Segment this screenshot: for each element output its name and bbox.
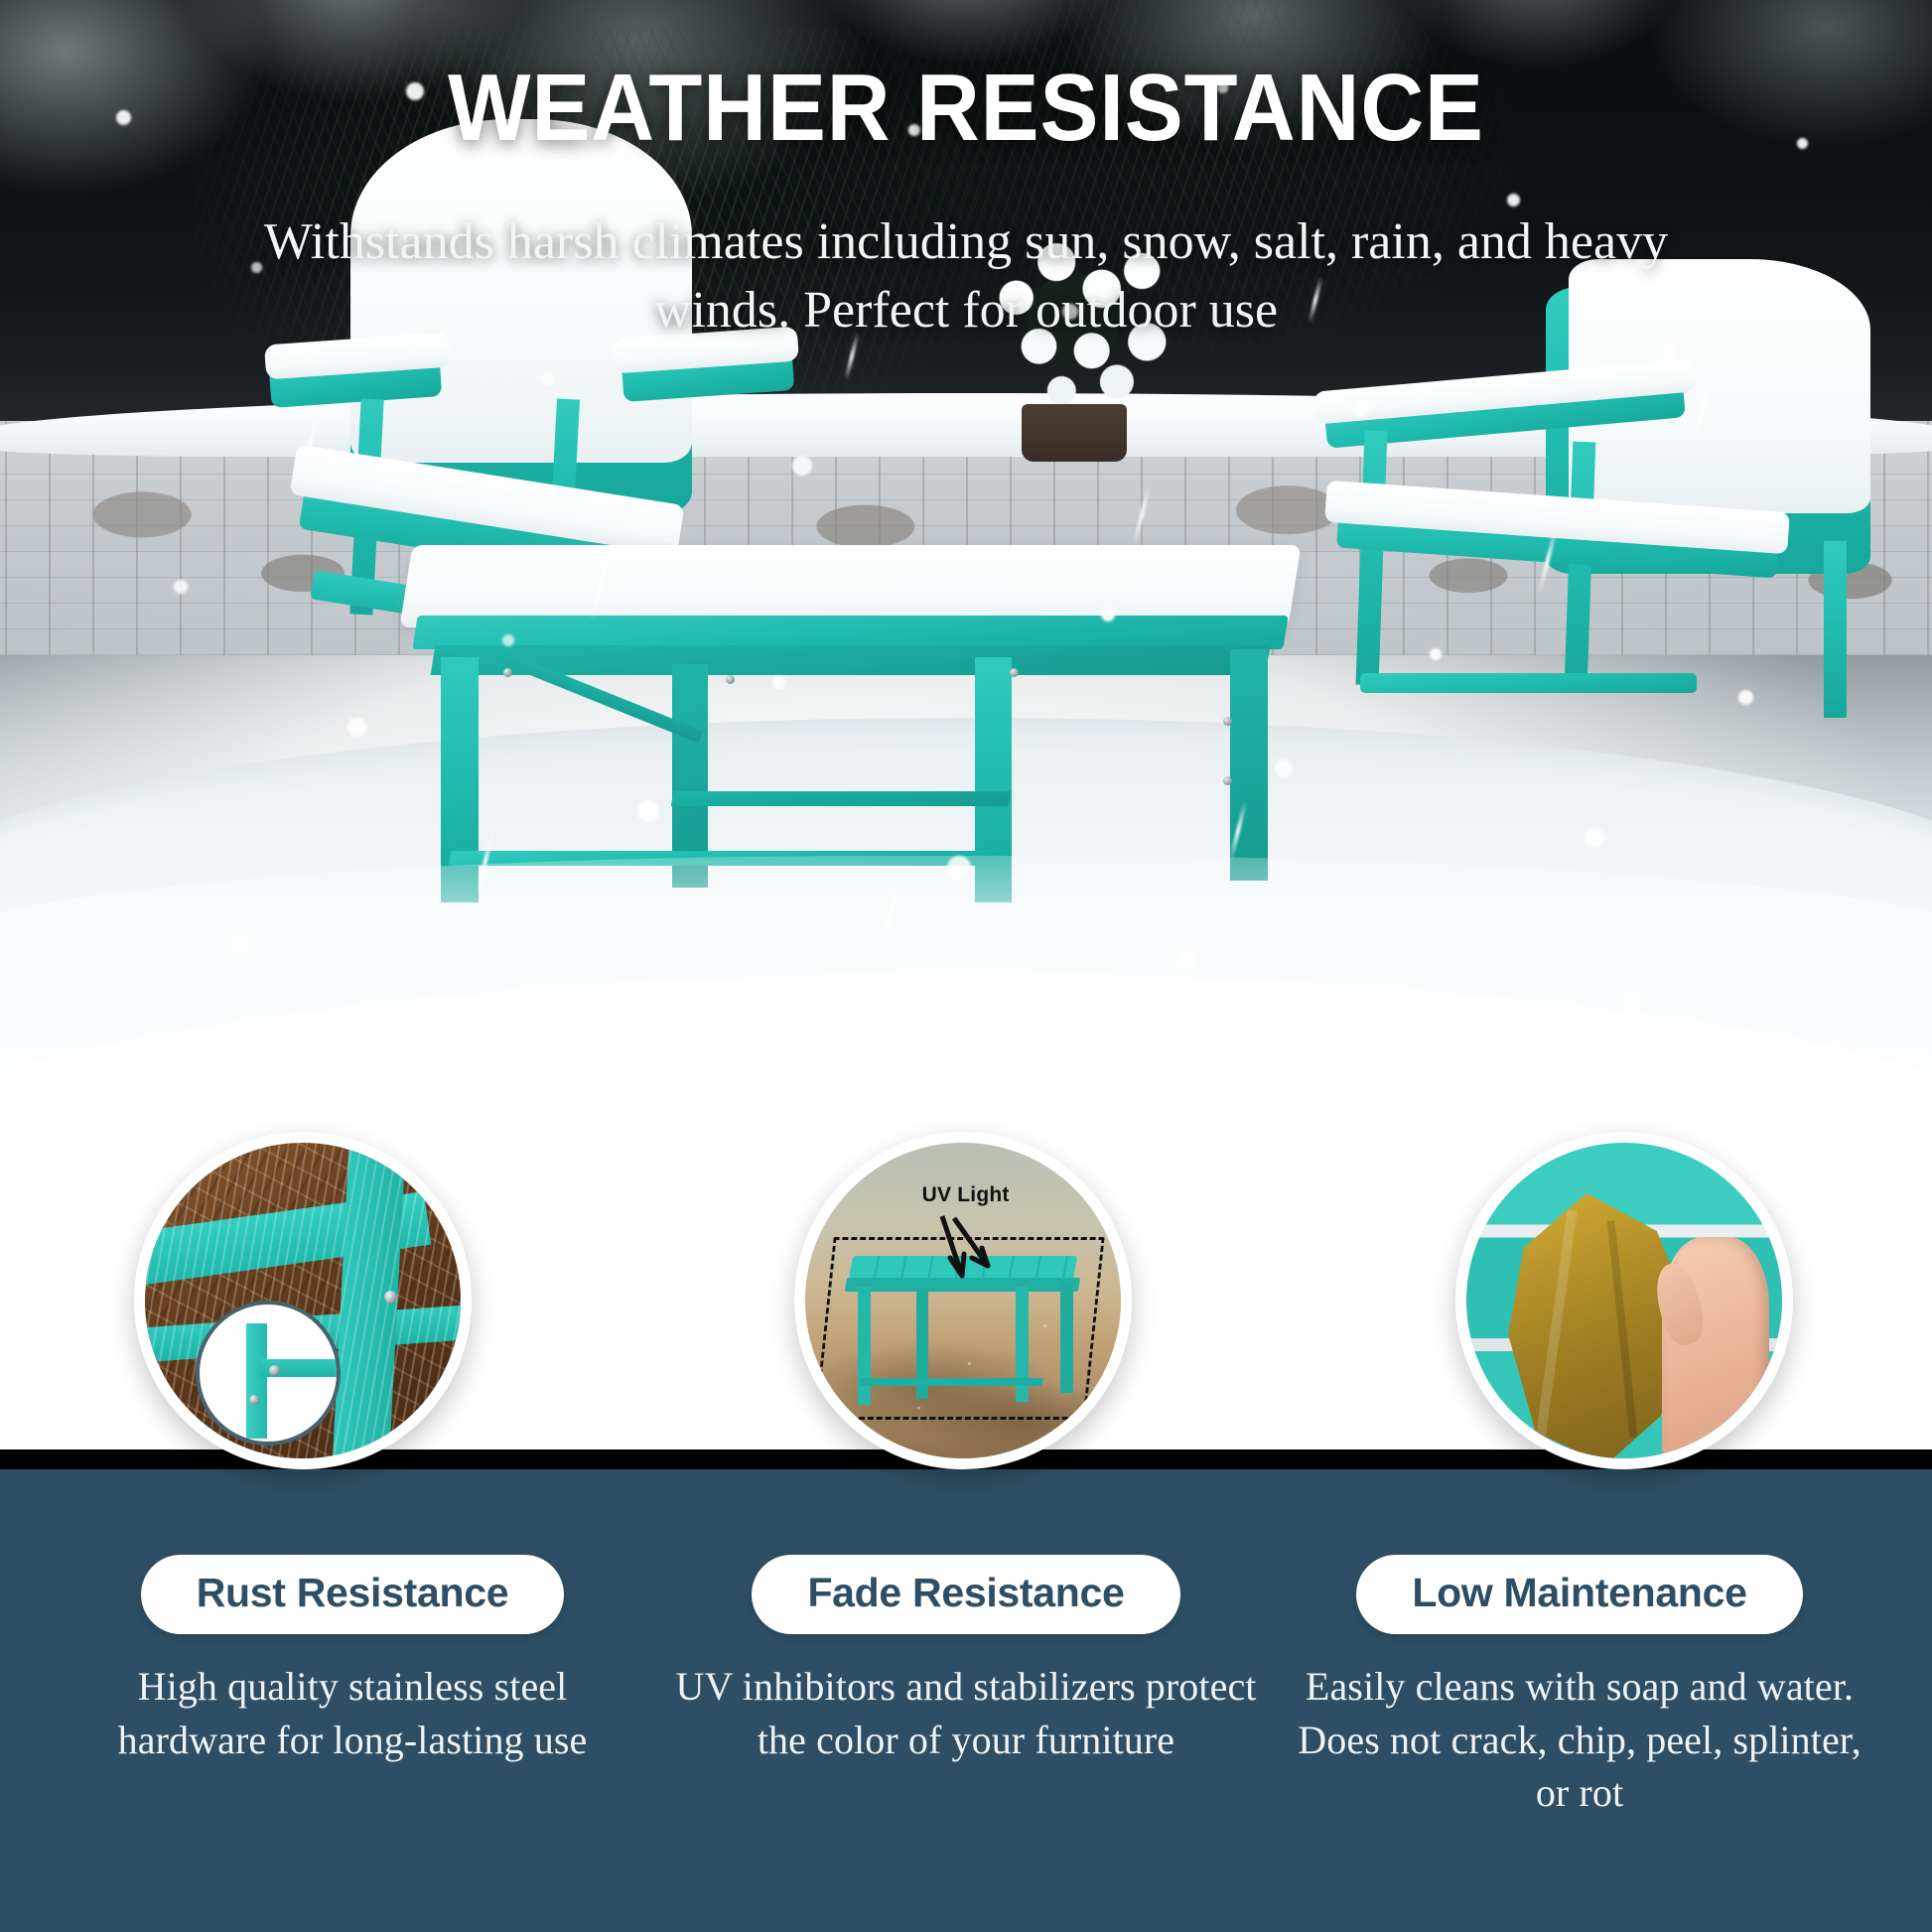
page-subtitle: Withstands harsh climates including sun,… [231, 208, 1701, 345]
chair-leg-c [1824, 541, 1847, 718]
table-leg-4 [1230, 649, 1268, 881]
rust-resistance-circle [134, 1132, 472, 1469]
table-screw [1223, 717, 1232, 726]
feature-label-badge: Low Maintenance [1356, 1555, 1802, 1634]
table-screw [503, 668, 512, 677]
chair-stretcher [1360, 673, 1697, 692]
table-screw [726, 675, 735, 684]
infographic-root: UV Light Rust Resistance High quality st… [0, 0, 1932, 1932]
table-stretcher-back [671, 791, 1012, 806]
magnifier-inset [196, 1301, 341, 1446]
magnified-post [246, 1323, 267, 1439]
cloth-fold [1535, 1210, 1578, 1449]
fade-resistance-circle: UV Light [794, 1132, 1132, 1469]
feature-description: Easily cleans with soap and water. Does … [1287, 1660, 1872, 1820]
table-screw [1010, 668, 1019, 677]
feature-fade-resistance: Fade Resistance UV inhibitors and stabil… [673, 1555, 1259, 1932]
magnified-screw [249, 1395, 259, 1405]
page-title: WEATHER RESISTANCE [77, 60, 1855, 157]
feature-low-maintenance: Low Maintenance Easily cleans with soap … [1287, 1555, 1872, 1932]
feature-description: High quality stainless steel hardware fo… [60, 1660, 645, 1766]
feature-rust-resistance: Rust Resistance High quality stainless s… [60, 1555, 645, 1932]
table-screw [1223, 776, 1232, 785]
feature-label-badge: Fade Resistance [752, 1555, 1179, 1634]
adirondack-chair-right [1313, 276, 1893, 828]
cloth-fold [1606, 1220, 1637, 1437]
low-maintenance-circle [1455, 1132, 1793, 1469]
feature-description: UV inhibitors and stabilizers protect th… [673, 1660, 1259, 1766]
uv-light-label: UV Light [922, 1183, 1010, 1207]
uv-light-arrows-icon [805, 1202, 1132, 1401]
feature-list: Rust Resistance High quality stainless s… [0, 1555, 1932, 1932]
chair-leg-a [1356, 430, 1388, 684]
feature-label-badge: Rust Resistance [141, 1555, 565, 1634]
plant-pot [1022, 404, 1127, 462]
